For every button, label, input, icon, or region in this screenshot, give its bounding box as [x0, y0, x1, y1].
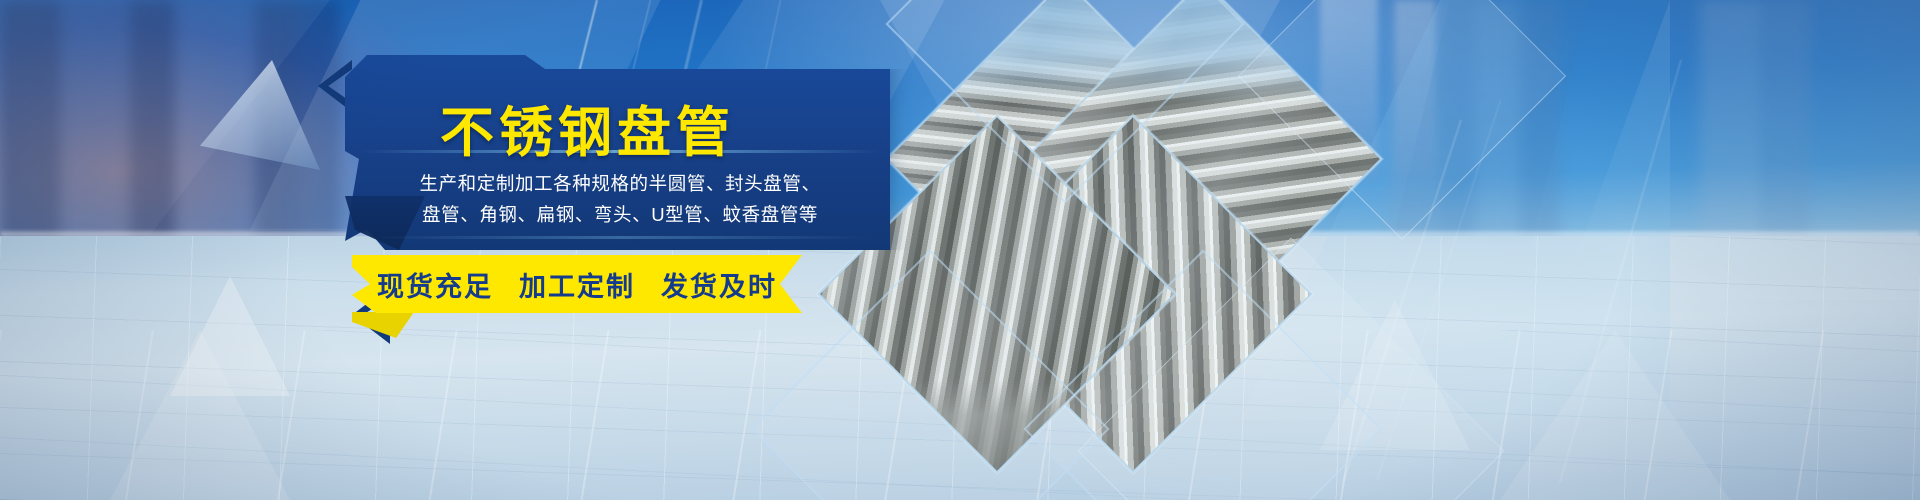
subtitle-line-2: 盘管、角钢、扁钢、弯头、U型管、蚊香盘管等: [390, 199, 850, 230]
feature-item-shipping: 发货及时: [661, 265, 777, 304]
subtitle-line-1: 生产和定制加工各种规格的半圆管、封头盘管、: [390, 168, 850, 199]
feature-item-custom: 加工定制: [519, 265, 635, 304]
feature-item-stock: 现货充足: [377, 265, 493, 304]
page-title: 不锈钢盘管: [440, 88, 860, 167]
ribbon-sheen-line-secondary: [372, 236, 872, 239]
subtitle-block: 生产和定制加工各种规格的半圆管、封头盘管、 盘管、角钢、扁钢、弯头、U型管、蚊香…: [390, 168, 850, 230]
feature-list: 现货充足 加工定制 发货及时: [352, 255, 802, 313]
product-banner: 不锈钢盘管 生产和定制加工各种规格的半圆管、封头盘管、 盘管、角钢、扁钢、弯头、…: [0, 0, 1920, 500]
